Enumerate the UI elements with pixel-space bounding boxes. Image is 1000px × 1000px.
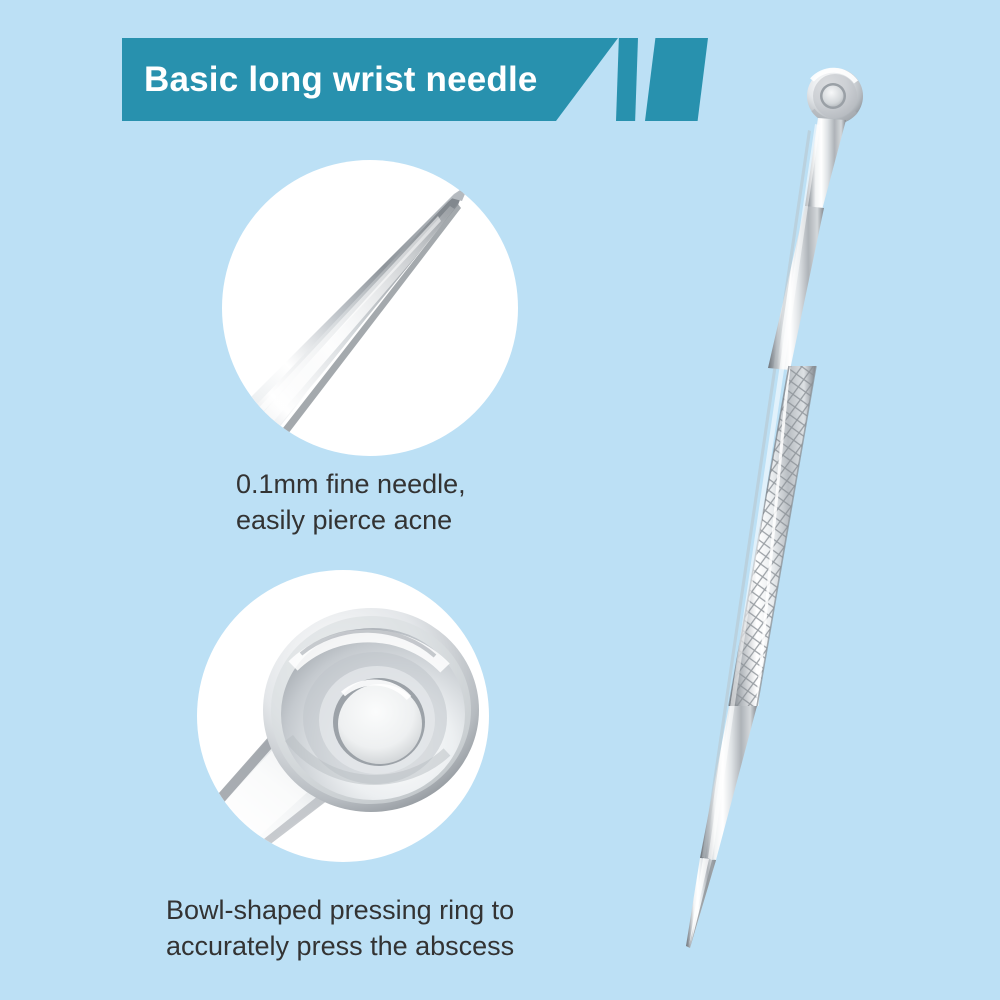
caption-press-ring: Bowl-shaped pressing ring to accurately … [166,892,514,964]
product-needle-illustration [0,0,1000,1000]
banner-stripe-small [616,38,638,121]
banner-stripe-large [645,38,708,121]
feature-circle-needle-tip [222,160,518,456]
product-marketing-image: Basic long wrist needle [0,0,1000,1000]
page-title: Basic long wrist needle [144,60,538,100]
feature-circle-press-ring [197,570,489,862]
title-banner: Basic long wrist needle [122,38,618,121]
needle-tip-closeup-icon [222,160,518,456]
caption-needle-tip: 0.1mm fine needle, easily pierce acne [236,466,466,538]
bowl-ring-closeup-icon [197,570,489,862]
